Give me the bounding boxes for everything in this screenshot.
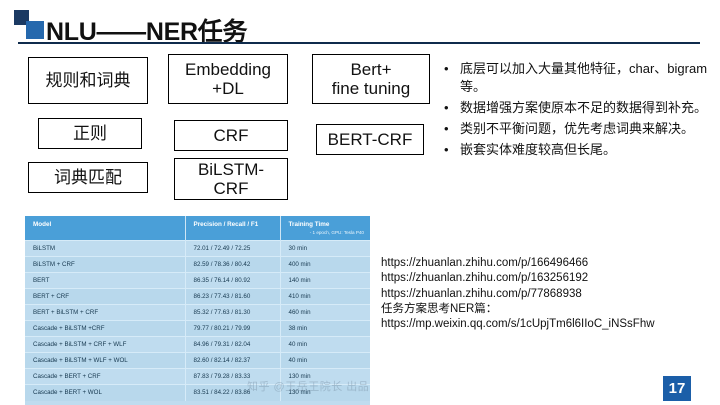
flow-box-label: BiLSTM-CRF: [198, 160, 264, 198]
table-cell-time: 400 min: [280, 257, 370, 273]
table-row: BERT + CRF86.23 / 77.43 / 81.60410 min: [25, 289, 370, 305]
flow-box-regex: 正则: [38, 118, 142, 149]
table-header-prf-label: Precision / Recall / F1: [194, 221, 259, 228]
bullet-text: 底层可以加入大量其他特征，char、bigram等。: [460, 60, 716, 96]
bullet-list: • 底层可以加入大量其他特征，char、bigram等。 • 数据增强方案使原本…: [444, 60, 716, 162]
table-cell-model: BERT + CRF: [25, 289, 185, 305]
reference-link[interactable]: https://zhuanlan.zhihu.com/p/77868938: [381, 287, 716, 302]
table-header-model-label: Model: [33, 221, 51, 228]
table-cell-prf: 82.59 / 78.36 / 80.42: [185, 257, 280, 273]
flow-box-label: 正则: [73, 124, 107, 143]
flow-box-label: 规则和词典: [46, 71, 131, 90]
table-cell-model: BiLSTM + CRF: [25, 257, 185, 273]
table-cell-model: BERT + BiLSTM + CRF: [25, 305, 185, 321]
bullet-item: • 嵌套实体难度较高但长尾。: [444, 141, 716, 159]
table-cell-prf: 82.60 / 82.14 / 82.37: [185, 353, 280, 369]
bullet-text: 嵌套实体难度较高但长尾。: [460, 141, 716, 159]
flow-box-crf: CRF: [174, 120, 288, 151]
table-row: Cascade + BiLSTM +CRF79.77 / 80.21 / 79.…: [25, 321, 370, 337]
table-cell-prf: 79.77 / 80.21 / 79.99: [185, 321, 280, 337]
table-cell-prf: 84.96 / 79.31 / 82.04: [185, 337, 280, 353]
table-cell-prf: 72.01 / 72.49 / 72.25: [185, 241, 280, 257]
bullet-item: • 底层可以加入大量其他特征，char、bigram等。: [444, 60, 716, 96]
reference-link[interactable]: https://zhuanlan.zhihu.com/p/163256192: [381, 271, 716, 286]
bullet-item: • 类别不平衡问题，优先考虑词典来解决。: [444, 120, 716, 138]
flow-box-label: BERT-CRF: [328, 130, 413, 149]
flow-box-bert-fine-tuning: Bert+fine tuning: [312, 54, 430, 104]
table-cell-time: 30 min: [280, 241, 370, 257]
bullet-dot-icon: •: [444, 120, 460, 138]
flow-box-label: Bert+fine tuning: [332, 60, 410, 98]
results-table: Model Precision / Recall / F1 Training T…: [25, 216, 370, 401]
reference-link-caption: 任务方案思考NER篇：: [381, 302, 716, 317]
bullet-dot-icon: •: [444, 99, 460, 117]
bullet-text: 数据增强方案使原本不足的数据得到补充。: [460, 99, 716, 117]
table-body: BiLSTM72.01 / 72.49 / 72.2530 minBiLSTM …: [25, 241, 370, 401]
table-cell-model: Cascade + BERT + CRF: [25, 369, 185, 385]
flow-box-label: CRF: [214, 126, 249, 145]
table-cell-time: 410 min: [280, 289, 370, 305]
table-cell-model: Cascade + BiLSTM + WLF + WOL: [25, 353, 185, 369]
table-row: Cascade + BiLSTM + CRF + WLF84.96 / 79.3…: [25, 337, 370, 353]
slide-canvas: NLU——NER任务 规则和词典 正则 词典匹配 Embedding+DL CR…: [0, 0, 720, 405]
page-number-badge: 17: [663, 376, 691, 401]
table-cell-prf: 86.23 / 77.43 / 81.60: [185, 289, 280, 305]
table-cell-prf: 86.35 / 76.14 / 80.92: [185, 273, 280, 289]
table-cell-time: 38 min: [280, 321, 370, 337]
table-cell-time: 40 min: [280, 353, 370, 369]
watermark: 知乎 @王岳王院长 出品: [247, 378, 369, 394]
table-header-model: Model: [25, 216, 185, 241]
table-cell-model: Cascade + BiLSTM + CRF + WLF: [25, 337, 185, 353]
table-cell-time: 460 min: [280, 305, 370, 321]
bullet-item: • 数据增强方案使原本不足的数据得到补充。: [444, 99, 716, 117]
table-cell-model: BiLSTM: [25, 241, 185, 257]
reference-link[interactable]: https://zhuanlan.zhihu.com/p/166496466: [381, 256, 716, 271]
table-row: BiLSTM72.01 / 72.49 / 72.2530 min: [25, 241, 370, 257]
results-table-container: Model Precision / Recall / F1 Training T…: [25, 216, 370, 405]
table-cell-model: Cascade + BiLSTM +CRF: [25, 321, 185, 337]
flow-box-label: Embedding+DL: [185, 60, 271, 98]
table-row: BiLSTM + CRF82.59 / 78.36 / 80.42400 min: [25, 257, 370, 273]
reference-links: https://zhuanlan.zhihu.com/p/166496466 h…: [381, 256, 716, 332]
table-header-training-time-sub: - 1 epoch, GPU: Tesla P40: [289, 230, 365, 235]
table-header-prf: Precision / Recall / F1: [185, 216, 280, 241]
table-row: BERT86.35 / 76.14 / 80.92140 min: [25, 273, 370, 289]
table-cell-model: Cascade + BERT + WOL: [25, 385, 185, 401]
flow-box-rules-dictionary: 规则和词典: [28, 57, 148, 104]
bullet-text: 类别不平衡问题，优先考虑词典来解决。: [460, 120, 716, 138]
bullet-dot-icon: •: [444, 60, 460, 78]
table-cell-time: 40 min: [280, 337, 370, 353]
table-header-training-time-label: Training Time: [289, 221, 330, 228]
table-row: BERT + BiLSTM + CRF85.32 / 77.63 / 81.30…: [25, 305, 370, 321]
reference-link[interactable]: https://mp.weixin.qq.com/s/1cUpjTm6l6IIo…: [381, 317, 716, 332]
table-header-training-time: Training Time - 1 epoch, GPU: Tesla P40: [280, 216, 370, 241]
bullet-dot-icon: •: [444, 141, 460, 159]
flow-box-bert-crf: BERT-CRF: [316, 124, 424, 155]
flow-box-label: 词典匹配: [54, 168, 122, 187]
flow-box-dictionary-match: 词典匹配: [28, 162, 148, 193]
flow-box-embedding-dl: Embedding+DL: [168, 54, 288, 104]
table-row: Cascade + BiLSTM + WLF + WOL82.60 / 82.1…: [25, 353, 370, 369]
table-cell-time: 140 min: [280, 273, 370, 289]
table-header-row: Model Precision / Recall / F1 Training T…: [25, 216, 370, 241]
flow-box-bilstm-crf: BiLSTM-CRF: [174, 158, 288, 200]
logo-square-blue-icon: [26, 21, 44, 39]
title-divider: [18, 42, 700, 44]
table-cell-model: BERT: [25, 273, 185, 289]
table-cell-prf: 85.32 / 77.63 / 81.30: [185, 305, 280, 321]
